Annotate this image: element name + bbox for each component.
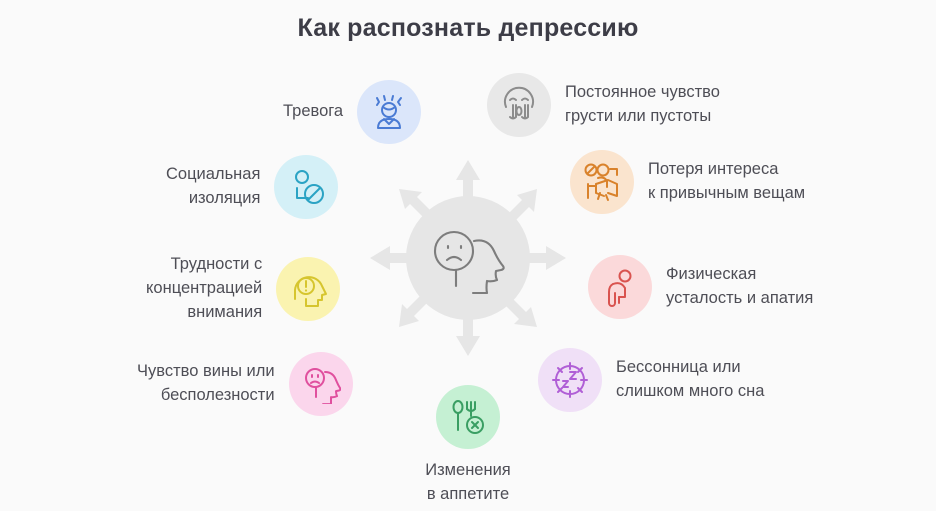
symptom-item-isolation[interactable]: Социальная изоляция (166, 155, 338, 219)
anxious-person-icon (357, 80, 421, 144)
symptom-label-sadness: Постоянное чувство грусти или пустоты (565, 81, 720, 129)
symptom-label-appetite: Изменения в аппетите (425, 459, 511, 507)
symptom-label-fatigue: Физическая усталость и апатия (666, 263, 813, 311)
symptom-label-isolation: Социальная изоляция (166, 163, 260, 211)
person-blocked-icon (274, 155, 338, 219)
infographic-canvas: Как распознать депрессию (0, 0, 936, 511)
symptom-label-interest-loss: Потеря интереса к привычным вещам (648, 158, 805, 206)
spoon-fork-cancel-icon (436, 385, 500, 449)
symptom-label-guilt: Чувство вины или бесполезности (137, 360, 275, 408)
symptom-item-concentration[interactable]: Трудности с концентрацией внимания (146, 253, 340, 325)
symptom-item-anxiety[interactable]: Тревога (283, 80, 421, 144)
symptom-item-guilt[interactable]: Чувство вины или бесполезности (137, 352, 353, 416)
crying-face-icon (487, 73, 551, 137)
symptom-item-appetite[interactable]: Изменения в аппетите (403, 385, 533, 507)
symptom-item-insomnia[interactable]: Бессонница или слишком много сна (538, 348, 764, 412)
symptom-item-sadness[interactable]: Постоянное чувство грусти или пустоты (487, 73, 720, 137)
clock-sleep-zzz-icon (538, 348, 602, 412)
symptom-label-insomnia: Бессонница или слишком много сна (616, 356, 764, 404)
head-sad-face-icon (289, 352, 353, 416)
symptom-label-anxiety: Тревога (283, 100, 343, 124)
symptom-item-fatigue[interactable]: Физическая усталость и апатия (588, 255, 813, 319)
person-desk-no-interest-icon (570, 150, 634, 214)
symptom-label-concentration: Трудности с концентрацией внимания (146, 253, 262, 325)
head-exclamation-icon (276, 257, 340, 321)
central-hub (368, 158, 568, 358)
symptom-item-interest-loss[interactable]: Потеря интереса к привычным вещам (570, 150, 805, 214)
page-title: Как распознать депрессию (0, 14, 936, 43)
tired-person-icon (588, 255, 652, 319)
